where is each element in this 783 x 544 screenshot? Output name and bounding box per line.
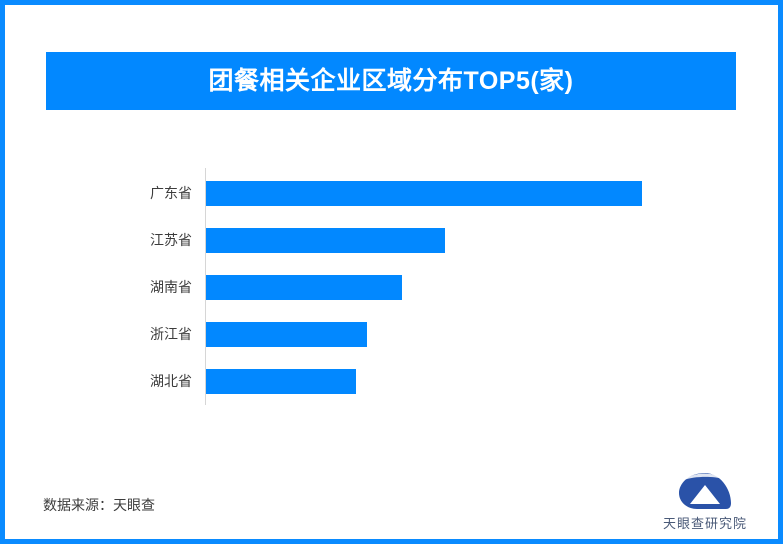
bar-chart: 广东省 江苏省 湖南省 浙江省 湖北省 [46, 155, 736, 415]
bar-category-label: 浙江省 [46, 322, 192, 347]
bar-value-江苏省[interactable] [206, 228, 445, 253]
chart-title-banner: 团餐相关企业区域分布TOP5(家) [46, 52, 736, 110]
bar-category-label: 湖北省 [46, 369, 192, 394]
bar-value-湖北省[interactable] [206, 369, 356, 394]
data-source-note: 数据来源：天眼查 [43, 495, 155, 515]
bar-row: 湖南省 [46, 275, 736, 300]
bar-row: 广东省 [46, 181, 736, 206]
bar-category-label: 湖南省 [46, 275, 192, 300]
bar-category-label: 江苏省 [46, 228, 192, 253]
bar-category-label: 广东省 [46, 181, 192, 206]
brand-name-label: 天眼查研究院 [655, 513, 755, 532]
tianyancha-eye-mountain-logo-icon [678, 471, 732, 511]
brand-logo: 天眼查研究院 [655, 471, 755, 533]
bar-row: 江苏省 [46, 228, 736, 253]
bar-value-广东省[interactable] [206, 181, 642, 206]
bar-value-湖南省[interactable] [206, 275, 402, 300]
page-title: 团餐相关企业区域分布TOP5(家) [209, 69, 574, 94]
bar-value-浙江省[interactable] [206, 322, 367, 347]
bar-row: 湖北省 [46, 369, 736, 394]
infographic-poster: 团餐相关企业区域分布TOP5(家) 广东省 江苏省 湖南省 浙江省 湖北省 数据… [0, 0, 783, 544]
bar-row: 浙江省 [46, 322, 736, 347]
